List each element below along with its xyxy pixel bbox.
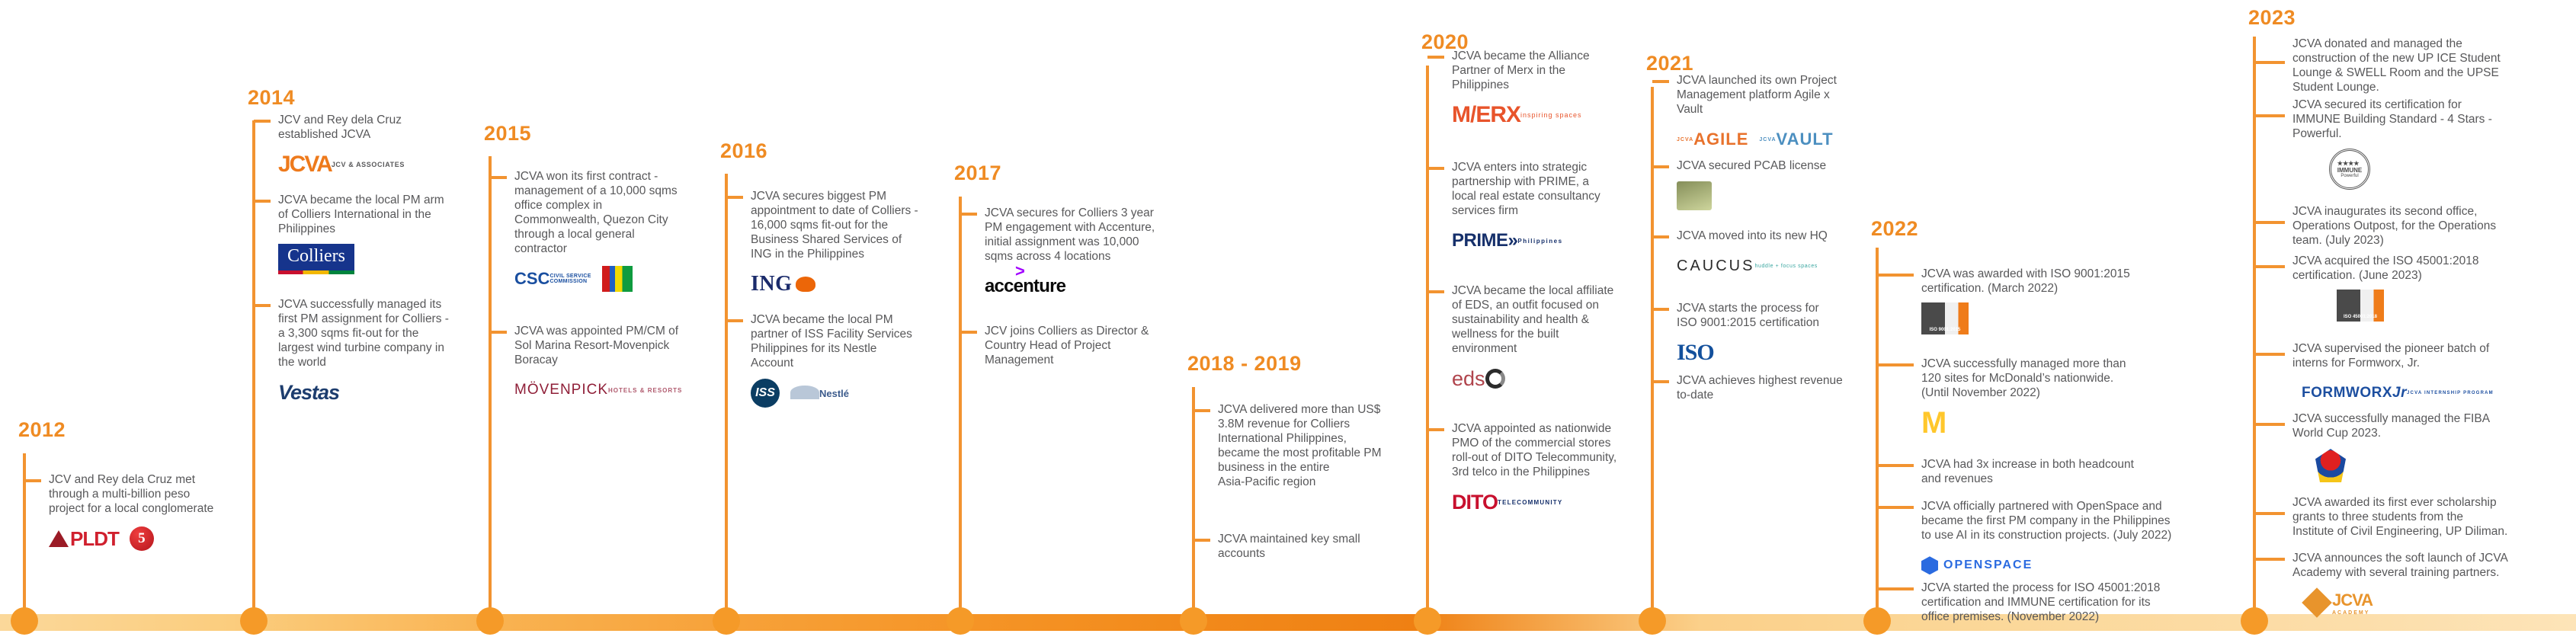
event-tick — [960, 213, 977, 216]
event-item: JCVA launched its own Project Management… — [1652, 73, 1860, 156]
year-column-2015: 2015 JCVA won its first contract - manag… — [469, 0, 697, 640]
event-logos: accenture> — [985, 270, 1168, 303]
event-logos: DITOTELECOMMUNITY — [1452, 485, 1641, 519]
iso-logo: ISO — [1677, 338, 1714, 368]
event-tick — [254, 120, 271, 123]
movenpick-logo: MÖVENPICKHOTELS & RESORTS — [514, 375, 682, 405]
event-tick — [1877, 274, 1914, 277]
event-tick — [2254, 114, 2285, 117]
year-label: 2023 — [2248, 6, 2296, 30]
event-item: JCVA had 3x increase in both headcount a… — [1877, 457, 2205, 486]
event-text: JCVA moved into its new HQ — [1677, 229, 1860, 243]
event-tick — [2254, 221, 2285, 224]
event-item: JCVA supervised the pioneer batch of int… — [2254, 341, 2574, 410]
event-tick — [1427, 290, 1444, 293]
event-text: JCVA enters into strategic partnership w… — [1452, 160, 1635, 218]
event-item: JCVA successfully managed more than 120 … — [1877, 357, 2205, 440]
year-node[interactable] — [1414, 607, 1441, 635]
event-text: JCVA became the local affiliate of EDS, … — [1452, 283, 1635, 356]
jcva-vault-logo: JCVAVAULT — [1759, 124, 1833, 155]
event-tick — [1427, 56, 1444, 59]
event-item: JCVA won its first contract - management… — [490, 169, 697, 296]
event-item: JCV and Rey dela Cruz established JCVA J… — [254, 113, 463, 181]
event-item: JCVA starts the process for ISO 9001:201… — [1652, 301, 1860, 370]
event-text: JCVA started the process for ISO 45001:2… — [1921, 581, 2220, 624]
event-text: JCVA inaugurates its second office, Oper… — [2292, 204, 2574, 248]
event-tick — [254, 304, 271, 307]
event-tick — [2254, 512, 2285, 515]
event-item: JCVA was appointed PM/CM of Sol Marina R… — [490, 324, 697, 407]
jcva-academy-logo: JCVAACADEMY — [2306, 587, 2373, 618]
event-item: JCVA was awarded with ISO 9001:2015 cert… — [1877, 267, 2205, 335]
event-text: JCVA maintained key small accounts — [1218, 532, 1408, 561]
accenture-logo: accenture> — [985, 271, 1065, 302]
colliers-logo: Colliers — [278, 244, 354, 274]
event-item: JCVA announces the soft launch of JCVA A… — [2254, 551, 2576, 619]
event-tick — [24, 479, 41, 482]
event-text: JCVA secured its certification for IMMUN… — [2292, 98, 2574, 141]
event-logos — [1677, 179, 1860, 213]
year-column-2020: 2020 JCVA became the Alliance Partner of… — [1406, 0, 1635, 640]
event-text: JCVA secures for Colliers 3 year PM enga… — [985, 206, 1168, 264]
event-item: JCVA secured PCAB license — [1652, 158, 1860, 213]
event-text: JCVA donated and managed the constructio… — [2292, 37, 2574, 94]
event-text: JCVA appointed as nationwide PMO of the … — [1452, 421, 1641, 479]
year-label: 2012 — [18, 418, 66, 442]
event-tick — [2254, 265, 2285, 268]
event-tick — [960, 331, 977, 334]
event-item: JCVA successfully managed the FIBA World… — [2254, 411, 2574, 485]
event-logos — [2315, 446, 2574, 485]
event-item: JCVA successfully managed its first PM a… — [254, 297, 467, 409]
event-tick — [2254, 353, 2285, 356]
event-item: JCVA secures for Colliers 3 year PM enga… — [960, 206, 1168, 303]
caucus-logo: CAUCUShuddle + focus spaces — [1677, 251, 1818, 281]
event-text: JCVA secured PCAB license — [1677, 158, 1860, 173]
event-item: JCV joins Colliers as Director & Country… — [960, 324, 1168, 367]
event-text: JCVA starts the process for ISO 9001:201… — [1677, 301, 1860, 330]
event-tick — [1427, 167, 1444, 170]
iso-45001-2018-certificate-logo: ISO 45001:2018 — [2337, 290, 2384, 322]
iss-logo: ISS — [751, 379, 780, 408]
event-tick — [1877, 506, 1914, 509]
event-item: JCV and Rey dela Cruz met through a mult… — [24, 472, 230, 555]
event-item: JCVA enters into strategic partnership w… — [1427, 160, 1635, 258]
event-text: JCVA achieves highest revenue to-date — [1677, 373, 1860, 402]
event-text: JCVA delivered more than US$ 3.8M revenu… — [1218, 402, 1408, 489]
event-tick — [1427, 428, 1444, 431]
year-node[interactable] — [947, 607, 974, 635]
mcdonalds-logo: M — [1921, 408, 1946, 438]
event-text: JCVA won its first contract - management… — [514, 169, 697, 256]
event-text: JCVA officially partnered with OpenSpace… — [1921, 499, 2220, 542]
event-logos: Colliers — [278, 242, 463, 276]
openspace-logo: OPENSPACE — [1921, 550, 2033, 581]
year-column-2012: 2012 JCV and Rey dela Cruz met through a… — [3, 0, 232, 640]
year-column-2014: 2014 JCV and Rey dela Cruz established J… — [232, 0, 461, 640]
event-item: JCVA delivered more than US$ 3.8M revenu… — [1193, 402, 1408, 489]
event-item: JCVA inaugurates its second office, Oper… — [2254, 204, 2574, 248]
ing-logo: ING — [751, 269, 815, 299]
event-item: JCVA became the Alliance Partner of Merx… — [1427, 49, 1635, 132]
event-logos: ING — [751, 267, 934, 301]
event-text: JCVA successfully managed more than 120 … — [1921, 357, 2205, 400]
event-logos: CSCCIVIL SERVICECOMMISSION — [514, 262, 697, 296]
year-node[interactable] — [476, 607, 504, 635]
event-logos: CAUCUShuddle + focus spaces — [1677, 249, 1860, 283]
year-column-2023: 2023 JCVA donated and managed the constr… — [2233, 0, 2576, 640]
event-tick — [1193, 539, 1210, 542]
event-tick — [2254, 558, 2285, 561]
event-tick — [1652, 380, 1669, 383]
event-logos: FORMWORXJrJCVA INTERNSHIP PROGRAM — [2302, 376, 2574, 410]
event-logos: M/ERXinspiring spaces — [1452, 98, 1635, 132]
year-column-2021: 2021 JCVA launched its own Project Manag… — [1631, 0, 1860, 640]
event-logos: PRIME»Philippines — [1452, 224, 1635, 258]
event-text: JCVA successfully managed the FIBA World… — [2292, 411, 2574, 440]
nestle-logo: Nestlé — [790, 378, 849, 408]
dito-telecommunity-logo: DITOTELECOMMUNITY — [1452, 487, 1562, 517]
event-text: JCVA awarded its first ever scholarship … — [2292, 495, 2576, 539]
event-text: JCVA announces the soft launch of JCVA A… — [2292, 551, 2576, 580]
event-text: JCVA launched its own Project Management… — [1677, 73, 1860, 117]
event-logos: ISO — [1677, 336, 1860, 370]
event-text: JCVA became the local PM arm of Colliers… — [278, 193, 463, 236]
year-node[interactable] — [240, 607, 268, 635]
eds-logo: eds — [1452, 363, 1505, 394]
prime-philippines-logo: PRIME»Philippines — [1452, 226, 1563, 256]
year-node[interactable] — [713, 607, 740, 635]
csc-logo: CSCCIVIL SERVICECOMMISSION — [514, 264, 591, 294]
event-item: JCVA started the process for ISO 45001:2… — [1877, 581, 2220, 624]
event-logos: ISO 9001:2015 — [1921, 302, 2205, 335]
vestas-logo: Vestas — [278, 377, 339, 408]
event-item: JCVA became the local PM arm of Colliers… — [254, 193, 463, 276]
year-label: 2017 — [954, 162, 1001, 185]
event-logos: PLDT 5 — [49, 522, 230, 555]
event-item: JCVA officially partnered with OpenSpace… — [1877, 499, 2220, 582]
event-text: JCVA successfully managed its first PM a… — [278, 297, 467, 370]
event-text: JCVA acquired the ISO 45001:2018 certifi… — [2292, 254, 2574, 283]
event-tick — [490, 331, 507, 334]
event-tick — [490, 176, 507, 179]
year-column-2018-2019: 2018 - 2019 JCVA delivered more than US$… — [1172, 0, 1408, 640]
year-label: 2016 — [720, 139, 767, 163]
event-logos: eds — [1452, 362, 1635, 395]
event-logos: ★★★★IMMUNEPowerful — [2329, 147, 2574, 191]
event-tick — [726, 319, 743, 322]
event-tick — [1877, 587, 1914, 590]
event-logos: JCVAAGILE JCVAVAULT — [1677, 123, 1860, 156]
event-text: JCVA secures biggest PM appointment to d… — [751, 189, 934, 261]
event-text: JCVA became the local PM partner of ISS … — [751, 312, 934, 370]
year-label: 2015 — [484, 122, 531, 146]
event-text: JCV joins Colliers as Director & Country… — [985, 324, 1168, 367]
event-item: JCVA became the local PM partner of ISS … — [726, 312, 934, 410]
event-tick — [2254, 61, 2285, 64]
event-logos: M — [1921, 406, 2205, 440]
event-logos: ISO 45001:2018 — [2337, 289, 2574, 322]
fiba-world-cup-logo — [2315, 449, 2346, 482]
event-tick — [1652, 165, 1669, 168]
event-item: JCVA moved into its new HQ CAUCUShuddle … — [1652, 229, 1860, 283]
event-tick — [726, 196, 743, 199]
event-text: JCVA supervised the pioneer batch of int… — [2292, 341, 2574, 370]
formworx-jr-logo: FORMWORXJrJCVA INTERNSHIP PROGRAM — [2302, 378, 2494, 408]
pcab-logo — [1677, 181, 1712, 210]
event-tick — [254, 200, 271, 203]
immune-building-standard-logo: ★★★★IMMUNEPowerful — [2329, 149, 2370, 190]
event-logos: JCVAACADEMY — [2306, 586, 2576, 619]
year-label: 2021 — [1646, 52, 1693, 75]
year-column-2017: 2017 JCVA secures for Colliers 3 year PM… — [939, 0, 1168, 640]
event-item: JCVA achieves highest revenue to-date — [1652, 373, 1860, 402]
year-label: 2018 - 2019 — [1187, 352, 1302, 376]
timeline-infographic: 2012 JCV and Rey dela Cruz met through a… — [0, 0, 2576, 640]
event-item: JCVA maintained key small accounts — [1193, 532, 1408, 561]
year-node[interactable] — [1639, 607, 1666, 635]
event-text: JCVA had 3x increase in both headcount a… — [1921, 457, 2205, 486]
event-tick — [1193, 409, 1210, 412]
year-node[interactable] — [1180, 607, 1207, 635]
event-logos: ISS Nestlé — [751, 376, 934, 410]
event-item: JCVA donated and managed the constructio… — [2254, 37, 2574, 94]
event-text: JCVA became the Alliance Partner of Merx… — [1452, 49, 1635, 92]
event-tick — [1652, 308, 1669, 311]
year-column-2016: 2016 JCVA secures biggest PM appointment… — [705, 0, 934, 640]
event-logos: Vestas — [278, 376, 467, 409]
event-logos: JCVAJCV & ASSOCIATES — [278, 148, 463, 181]
event-text: JCV and Rey dela Cruz established JCVA — [278, 113, 463, 142]
jcva-agile-logo: JCVAAGILE — [1677, 124, 1748, 155]
merx-logo: M/ERXinspiring spaces — [1452, 100, 1582, 130]
event-tick — [2254, 423, 2285, 426]
event-item: JCVA secured its certification for IMMUN… — [2254, 98, 2574, 191]
event-item: JCVA acquired the ISO 45001:2018 certifi… — [2254, 254, 2574, 322]
jcv-associates-logo: JCVAJCV & ASSOCIATES — [278, 149, 405, 180]
event-item: JCVA awarded its first ever scholarship … — [2254, 495, 2576, 539]
year-label: 2022 — [1871, 217, 1918, 241]
event-tick — [1877, 464, 1914, 467]
event-item: JCVA appointed as nationwide PMO of the … — [1427, 421, 1641, 519]
event-tick — [1652, 80, 1669, 83]
event-text: JCVA was appointed PM/CM of Sol Marina R… — [514, 324, 697, 367]
event-item: JCVA became the local affiliate of EDS, … — [1427, 283, 1635, 395]
year-node[interactable] — [11, 607, 38, 635]
tv5-logo: 5 — [130, 526, 154, 551]
hc-logo — [602, 266, 633, 292]
event-text: JCVA was awarded with ISO 9001:2015 cert… — [1921, 267, 2205, 296]
iso-9001-2015-certificate-logo: ISO 9001:2015 — [1921, 302, 1969, 334]
event-tick — [1652, 235, 1669, 238]
event-tick — [1877, 363, 1914, 366]
event-logos: OPENSPACE — [1921, 549, 2220, 582]
event-logos: MÖVENPICKHOTELS & RESORTS — [514, 373, 697, 407]
event-text: JCV and Rey dela Cruz met through a mult… — [49, 472, 230, 516]
pldt-logo: PLDT — [49, 523, 119, 554]
year-label: 2014 — [248, 86, 295, 110]
event-item: JCVA secures biggest PM appointment to d… — [726, 189, 934, 301]
year-column-2022: 2022 JCVA was awarded with ISO 9001:2015… — [1856, 0, 2206, 640]
